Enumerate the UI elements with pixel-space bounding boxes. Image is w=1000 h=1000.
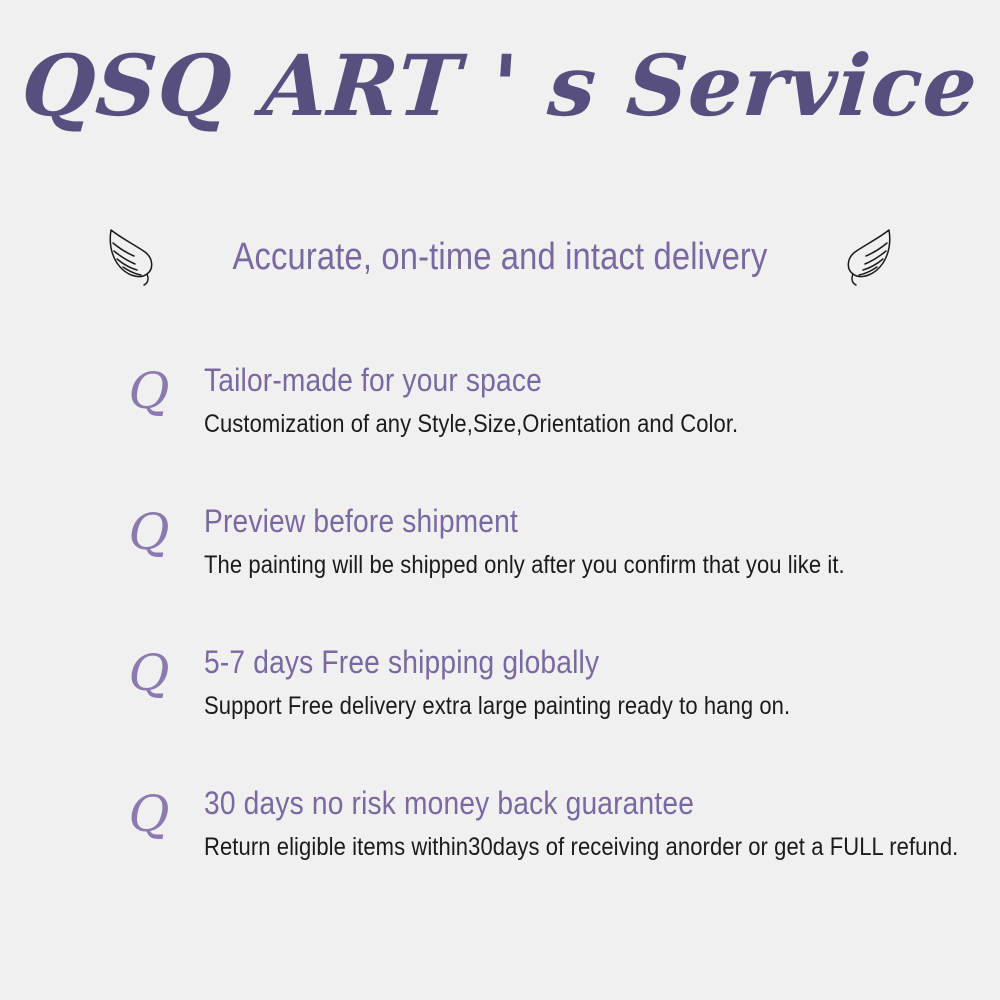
item-description: Customization of any Style,Size,Orientat… bbox=[204, 409, 885, 439]
service-items-list: Q Tailor-made for your space Customizati… bbox=[118, 362, 978, 926]
item-body: Tailor-made for your space Customization… bbox=[204, 362, 978, 439]
item-title: Preview before shipment bbox=[204, 503, 885, 541]
item-title: Tailor-made for your space bbox=[204, 362, 885, 400]
item-body: 5-7 days Free shipping globally Support … bbox=[204, 644, 978, 721]
page-title-container: QSQ ART ' s Service bbox=[0, 42, 1000, 130]
item-description: The painting will be shipped only after … bbox=[204, 550, 885, 580]
item-description: Support Free delivery extra large painti… bbox=[204, 691, 885, 721]
item-body: Preview before shipment The painting wil… bbox=[204, 503, 978, 580]
item-title: 30 days no risk money back guarantee bbox=[204, 785, 885, 823]
wing-icon-left bbox=[101, 224, 163, 290]
service-banner: QSQ ART ' s Service Accurate, on-time an… bbox=[0, 0, 1000, 1000]
item-body: 30 days no risk money back guarantee Ret… bbox=[204, 785, 978, 862]
item-marker-q: Q bbox=[118, 648, 180, 698]
subtitle-text: Accurate, on-time and intact delivery bbox=[233, 238, 768, 276]
page-title: QSQ ART ' s Service bbox=[19, 42, 981, 130]
service-item: Q 30 days no risk money back guarantee R… bbox=[118, 785, 978, 926]
item-title: 5-7 days Free shipping globally bbox=[204, 644, 885, 682]
item-marker-q: Q bbox=[118, 507, 180, 557]
item-marker-q: Q bbox=[118, 789, 180, 839]
wing-icon-right bbox=[837, 224, 899, 290]
service-item: Q Tailor-made for your space Customizati… bbox=[118, 362, 978, 503]
item-marker-q: Q bbox=[118, 366, 180, 416]
service-item: Q 5-7 days Free shipping globally Suppor… bbox=[118, 644, 978, 785]
subtitle-row: Accurate, on-time and intact delivery bbox=[0, 218, 1000, 296]
service-item: Q Preview before shipment The painting w… bbox=[118, 503, 978, 644]
item-description: Return eligible items within30days of re… bbox=[204, 832, 885, 862]
